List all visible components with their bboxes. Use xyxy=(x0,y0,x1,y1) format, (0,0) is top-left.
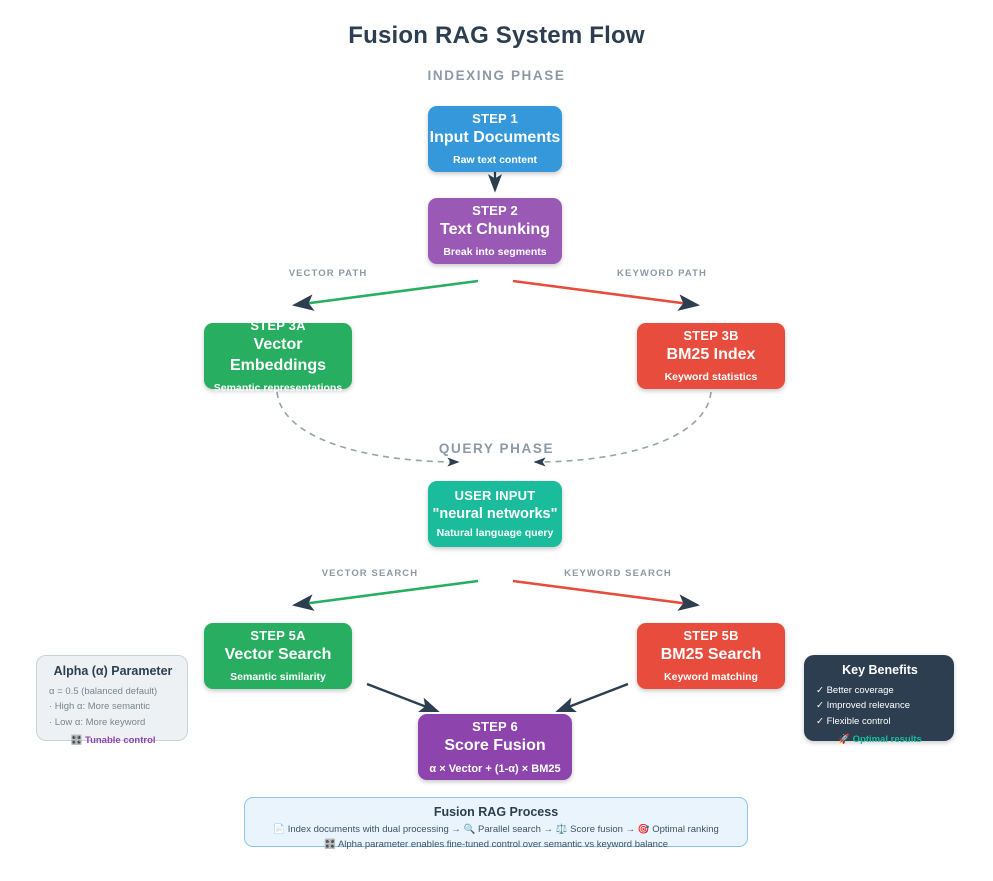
node-step3a-step: STEP 3A xyxy=(250,318,305,334)
edge-label-keyword-path: KEYWORD PATH xyxy=(592,268,732,279)
node-step3a-name: Vector Embeddings xyxy=(204,335,352,377)
page-title: Fusion RAG System Flow xyxy=(0,22,993,50)
node-step3b-step: STEP 3B xyxy=(683,328,738,344)
node-step5b-name: BM25 Search xyxy=(661,645,762,666)
legend-line-2: 🎛️ Alpha parameter enables fine-tuned co… xyxy=(255,838,737,853)
benefits-card-title: Key Benefits xyxy=(816,663,944,677)
edge-step2-to-step3b xyxy=(513,281,697,305)
node-step1-input-documents[interactable]: STEP 1 Input Documents Raw text content xyxy=(428,106,562,172)
node-step3a-vector-embeddings[interactable]: STEP 3A Vector Embeddings Semantic repre… xyxy=(204,323,352,389)
benefits-card-line-3: ✓ Flexible control xyxy=(816,714,944,729)
legend-line2-text: Alpha parameter enables fine-tuned contr… xyxy=(338,839,668,850)
node-step2-text-chunking[interactable]: STEP 2 Text Chunking Break into segments xyxy=(428,198,562,264)
node-user-input-step: USER INPUT xyxy=(455,488,536,504)
alpha-card-accent-label: Tunable control xyxy=(85,735,156,746)
benefits-card-accent-label: Optimal results xyxy=(853,734,922,745)
legend-line1-text3: Score fusion xyxy=(570,824,623,835)
node-user-input-query: "neural networks" xyxy=(433,506,558,522)
magnifier-icon: 🔍 xyxy=(464,824,476,835)
alpha-card-accent: 🎛️ Tunable control xyxy=(49,735,177,746)
legend-line1-text1: Index documents with dual processing xyxy=(288,824,449,835)
node-user-input[interactable]: USER INPUT "neural networks" Natural lan… xyxy=(428,481,562,547)
node-step2-desc: Break into segments xyxy=(443,246,546,259)
edge-label-keyword-search: KEYWORD SEARCH xyxy=(548,568,688,579)
alpha-card-title: Alpha (α) Parameter xyxy=(49,664,177,678)
edge-step5a-to-step6 xyxy=(367,684,437,711)
node-step6-name: Score Fusion xyxy=(444,736,545,757)
legend-panel[interactable]: Fusion RAG Process 📄 Index documents wit… xyxy=(244,797,748,847)
node-step6-formula: α × Vector + (1-α) × BM25 xyxy=(429,763,560,775)
node-step5a-vector-search[interactable]: STEP 5A Vector Search Semantic similarit… xyxy=(204,623,352,689)
node-step1-desc: Raw text content xyxy=(453,154,537,167)
node-step5b-step: STEP 5B xyxy=(683,628,738,644)
phase-label-query: QUERY PHASE xyxy=(0,441,993,456)
rocket-icon: 🚀 xyxy=(838,734,850,745)
legend-line1-arrow2: → xyxy=(544,824,554,835)
node-step2-step: STEP 2 xyxy=(472,203,518,219)
edge-step5b-to-step6 xyxy=(558,684,628,711)
edge-label-vector-path: VECTOR PATH xyxy=(258,268,398,279)
edge-step2-to-step3a xyxy=(295,281,478,305)
document-icon: 📄 xyxy=(273,824,285,835)
benefits-card-line-1: ✓ Better coverage xyxy=(816,683,944,698)
legend-line1-text2: Parallel search xyxy=(478,824,541,835)
benefits-card-line-2: ✓ Improved relevance xyxy=(816,698,944,713)
target-icon: 🎯 xyxy=(638,824,650,835)
balance-scale-icon: ⚖️ xyxy=(556,824,568,835)
legend-line1-text4: Optimal ranking xyxy=(652,824,719,835)
diagram-canvas: Fusion RAG System Flow INDEXING PHASE QU… xyxy=(0,0,993,881)
benefits-card-accent: 🚀 Optimal results xyxy=(816,734,944,745)
edge-userinput-to-step5a xyxy=(295,581,478,605)
legend-line1-arrow1: → xyxy=(451,824,461,835)
edge-userinput-to-step5b xyxy=(513,581,697,605)
legend-line1-arrow3: → xyxy=(626,824,636,835)
node-step5a-step: STEP 5A xyxy=(250,628,305,644)
control-knobs-icon: 🎛️ xyxy=(324,839,336,850)
edge-label-vector-search: VECTOR SEARCH xyxy=(300,568,440,579)
alpha-parameter-card[interactable]: Alpha (α) Parameter α = 0.5 (balanced de… xyxy=(36,655,188,741)
node-step6-score-fusion[interactable]: STEP 6 Score Fusion α × Vector + (1-α) ×… xyxy=(418,714,572,780)
node-step5b-bm25-search[interactable]: STEP 5B BM25 Search Keyword matching xyxy=(637,623,785,689)
node-step3b-name: BM25 Index xyxy=(667,345,756,366)
node-step1-step: STEP 1 xyxy=(472,111,518,127)
node-user-input-desc: Natural language query xyxy=(437,527,554,540)
node-step2-name: Text Chunking xyxy=(440,220,550,241)
alpha-card-line-3: · Low α: More keyword xyxy=(49,715,177,730)
node-step5b-desc: Keyword matching xyxy=(664,671,758,684)
legend-title: Fusion RAG Process xyxy=(255,805,737,819)
node-step3b-desc: Keyword statistics xyxy=(665,371,758,384)
legend-line-1: 📄 Index documents with dual processing →… xyxy=(255,823,737,838)
node-step1-name: Input Documents xyxy=(430,128,561,149)
alpha-card-line-2: · High α: More semantic xyxy=(49,699,177,714)
node-step5a-desc: Semantic similarity xyxy=(230,671,326,684)
node-step3a-desc: Semantic representations xyxy=(214,382,342,395)
node-step5a-name: Vector Search xyxy=(225,645,332,666)
node-step6-step: STEP 6 xyxy=(472,719,518,735)
key-benefits-card[interactable]: Key Benefits ✓ Better coverage ✓ Improve… xyxy=(804,655,954,741)
control-knobs-icon: 🎛️ xyxy=(70,735,82,746)
alpha-card-line-1: α = 0.5 (balanced default) xyxy=(49,684,177,699)
node-step3b-bm25-index[interactable]: STEP 3B BM25 Index Keyword statistics xyxy=(637,323,785,389)
phase-label-indexing: INDEXING PHASE xyxy=(0,68,993,83)
